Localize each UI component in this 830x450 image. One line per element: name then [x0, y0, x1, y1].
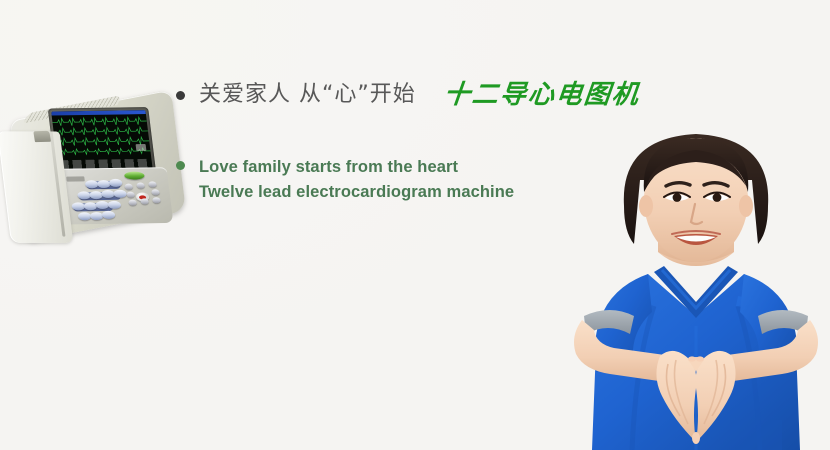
key-print[interactable] — [102, 211, 116, 219]
bullet-icon-primary — [176, 91, 185, 100]
key-lead-3[interactable] — [109, 179, 123, 187]
subtext-line-2: Twelve lead electrocardiogram machine — [199, 180, 514, 205]
key-lead-11[interactable] — [107, 201, 121, 209]
nurse-nail-bottom — [692, 432, 700, 444]
key-aux-1[interactable] — [124, 184, 133, 190]
subtext-block: Love family starts from the heart Twelve… — [199, 155, 514, 205]
device-keypad — [60, 167, 173, 224]
key-start[interactable] — [124, 171, 145, 179]
bullet-icon-secondary — [176, 161, 185, 170]
nurse-ear-right — [739, 195, 753, 217]
ecg-machine — [0, 83, 188, 249]
screen-logo-mark — [136, 144, 147, 151]
device-screen-bezel — [48, 107, 157, 176]
subtext-line-1: Love family starts from the heart — [199, 155, 514, 180]
nurse-hip-pocket — [730, 420, 782, 450]
device-screen — [51, 110, 153, 173]
key-aux-8[interactable] — [152, 197, 161, 203]
nurse-iris-left — [673, 193, 682, 202]
ecg-machine-image — [2, 100, 192, 250]
nurse-nail-left — [688, 356, 696, 361]
key-aux-4[interactable] — [126, 192, 135, 198]
key-aux-3[interactable] — [148, 181, 157, 187]
key-lead-7[interactable] — [113, 190, 127, 198]
headline-row: 关爱家人 从“心”开始 十二导心电图机 — [176, 82, 696, 108]
nurse-nail-right — [696, 356, 704, 361]
headline-chinese: 关爱家人 从“心”开始 — [199, 84, 416, 106]
device-brand-mark — [66, 176, 85, 181]
nurse-ear-left — [639, 195, 653, 217]
device-lid-latch — [33, 131, 51, 142]
nurse-illustration — [562, 120, 830, 450]
headline-chinese-accent: 十二导心电图机 — [442, 82, 641, 108]
nurse-iris-right — [713, 193, 722, 202]
nurse-photo — [562, 120, 830, 450]
key-aux-7[interactable] — [140, 198, 149, 204]
key-aux-6[interactable] — [128, 200, 137, 206]
key-aux-5[interactable] — [151, 189, 160, 195]
key-aux-2[interactable] — [136, 182, 145, 188]
promo-banner: 关爱家人 从“心”开始 十二导心电图机 Love family starts f… — [0, 0, 830, 450]
